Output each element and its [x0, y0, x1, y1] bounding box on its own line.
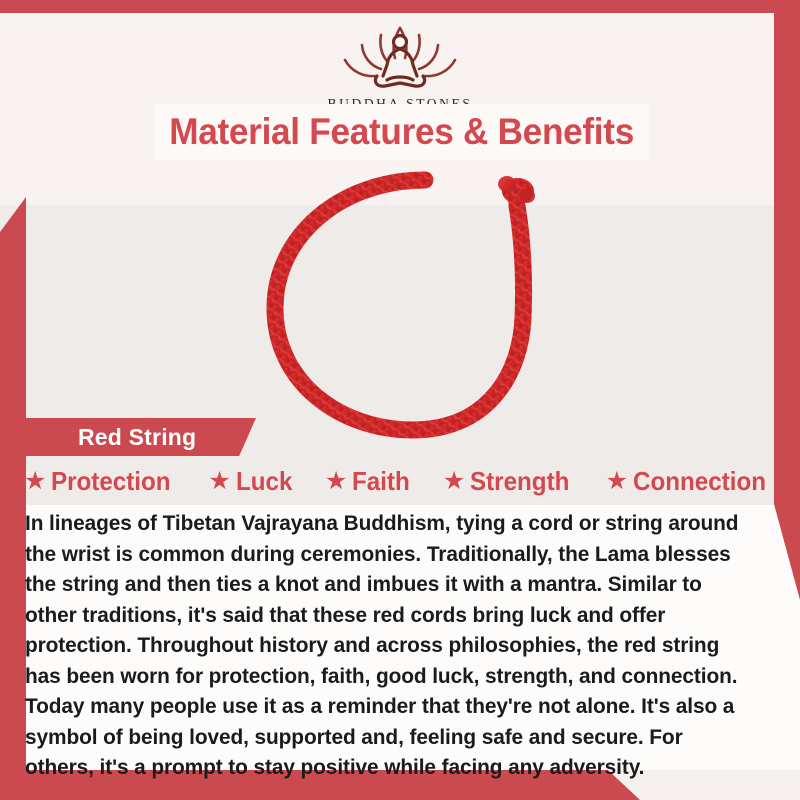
lotus-meditation-icon: [315, 18, 485, 94]
star-icon: ★: [24, 469, 46, 494]
title-banner: Material Features & Benefits: [155, 104, 649, 160]
star-icon: ★: [208, 469, 230, 494]
feature-item-protection: ★ Protection: [24, 466, 180, 497]
product-image-red-string-bracelet: [245, 158, 585, 448]
feature-label: Connection: [633, 466, 766, 497]
feature-item-strength: ★ Strength: [443, 466, 577, 497]
feature-item-luck: ★ Luck: [208, 466, 296, 497]
feature-item-connection: ★ Connection: [606, 466, 776, 497]
feature-label: Strength: [470, 466, 569, 497]
feature-label: Faith: [352, 466, 410, 497]
brand-logo: BUDDHA STONES: [0, 18, 800, 112]
feature-label: Protection: [51, 466, 171, 497]
feature-list: ★ Protection ★ Luck ★ Faith ★ Strength ★…: [24, 466, 776, 497]
star-icon: ★: [325, 469, 347, 494]
infographic-card: BUDDHA STONES Material Features & Benefi…: [0, 0, 800, 800]
product-label: Red String: [78, 424, 196, 451]
description-text: In lineages of Tibetan Vajrayana Buddhis…: [25, 508, 754, 783]
feature-item-faith: ★ Faith: [325, 466, 415, 497]
star-icon: ★: [443, 469, 465, 494]
feature-label: Luck: [236, 466, 292, 497]
product-label-banner: Red String: [16, 418, 256, 456]
page-title: Material Features & Benefits: [170, 111, 635, 153]
decor-bar-top: [0, 0, 800, 13]
decor-bar-left: [0, 197, 26, 780]
star-icon: ★: [606, 469, 628, 494]
